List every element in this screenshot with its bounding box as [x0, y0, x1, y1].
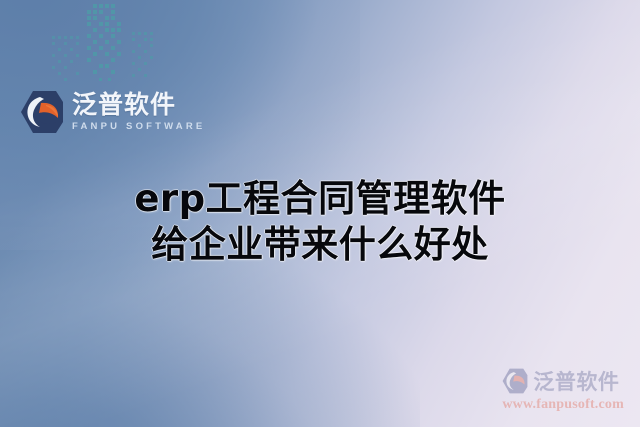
fanpu-logo-mark-icon	[20, 90, 64, 134]
headline-line-2: 给企业带来什么好处	[0, 224, 640, 266]
fanpu-logo-mark-faded-icon	[502, 368, 528, 394]
headline-line-1: erp工程合同管理软件	[0, 178, 640, 220]
brand-logo-text: 泛普软件 FANPU SOFTWARE	[72, 93, 205, 132]
marketing-banner: 泛普软件 FANPU SOFTWARE erp工程合同管理软件 给企业带来什么好…	[0, 0, 640, 427]
headline: erp工程合同管理软件 给企业带来什么好处	[0, 178, 640, 266]
pixel-grid-city-icon	[48, 0, 160, 86]
brand-name-cn: 泛普软件	[72, 93, 205, 118]
watermark-url: www.fanpusoft.com	[502, 397, 624, 413]
watermark-brand-name: 泛普软件	[533, 366, 619, 396]
watermark-logo-row: 泛普软件	[502, 366, 624, 396]
watermark: 泛普软件 www.fanpusoft.com	[502, 366, 624, 413]
brand-name-en: FANPU SOFTWARE	[72, 122, 205, 132]
brand-logo: 泛普软件 FANPU SOFTWARE	[20, 88, 205, 136]
